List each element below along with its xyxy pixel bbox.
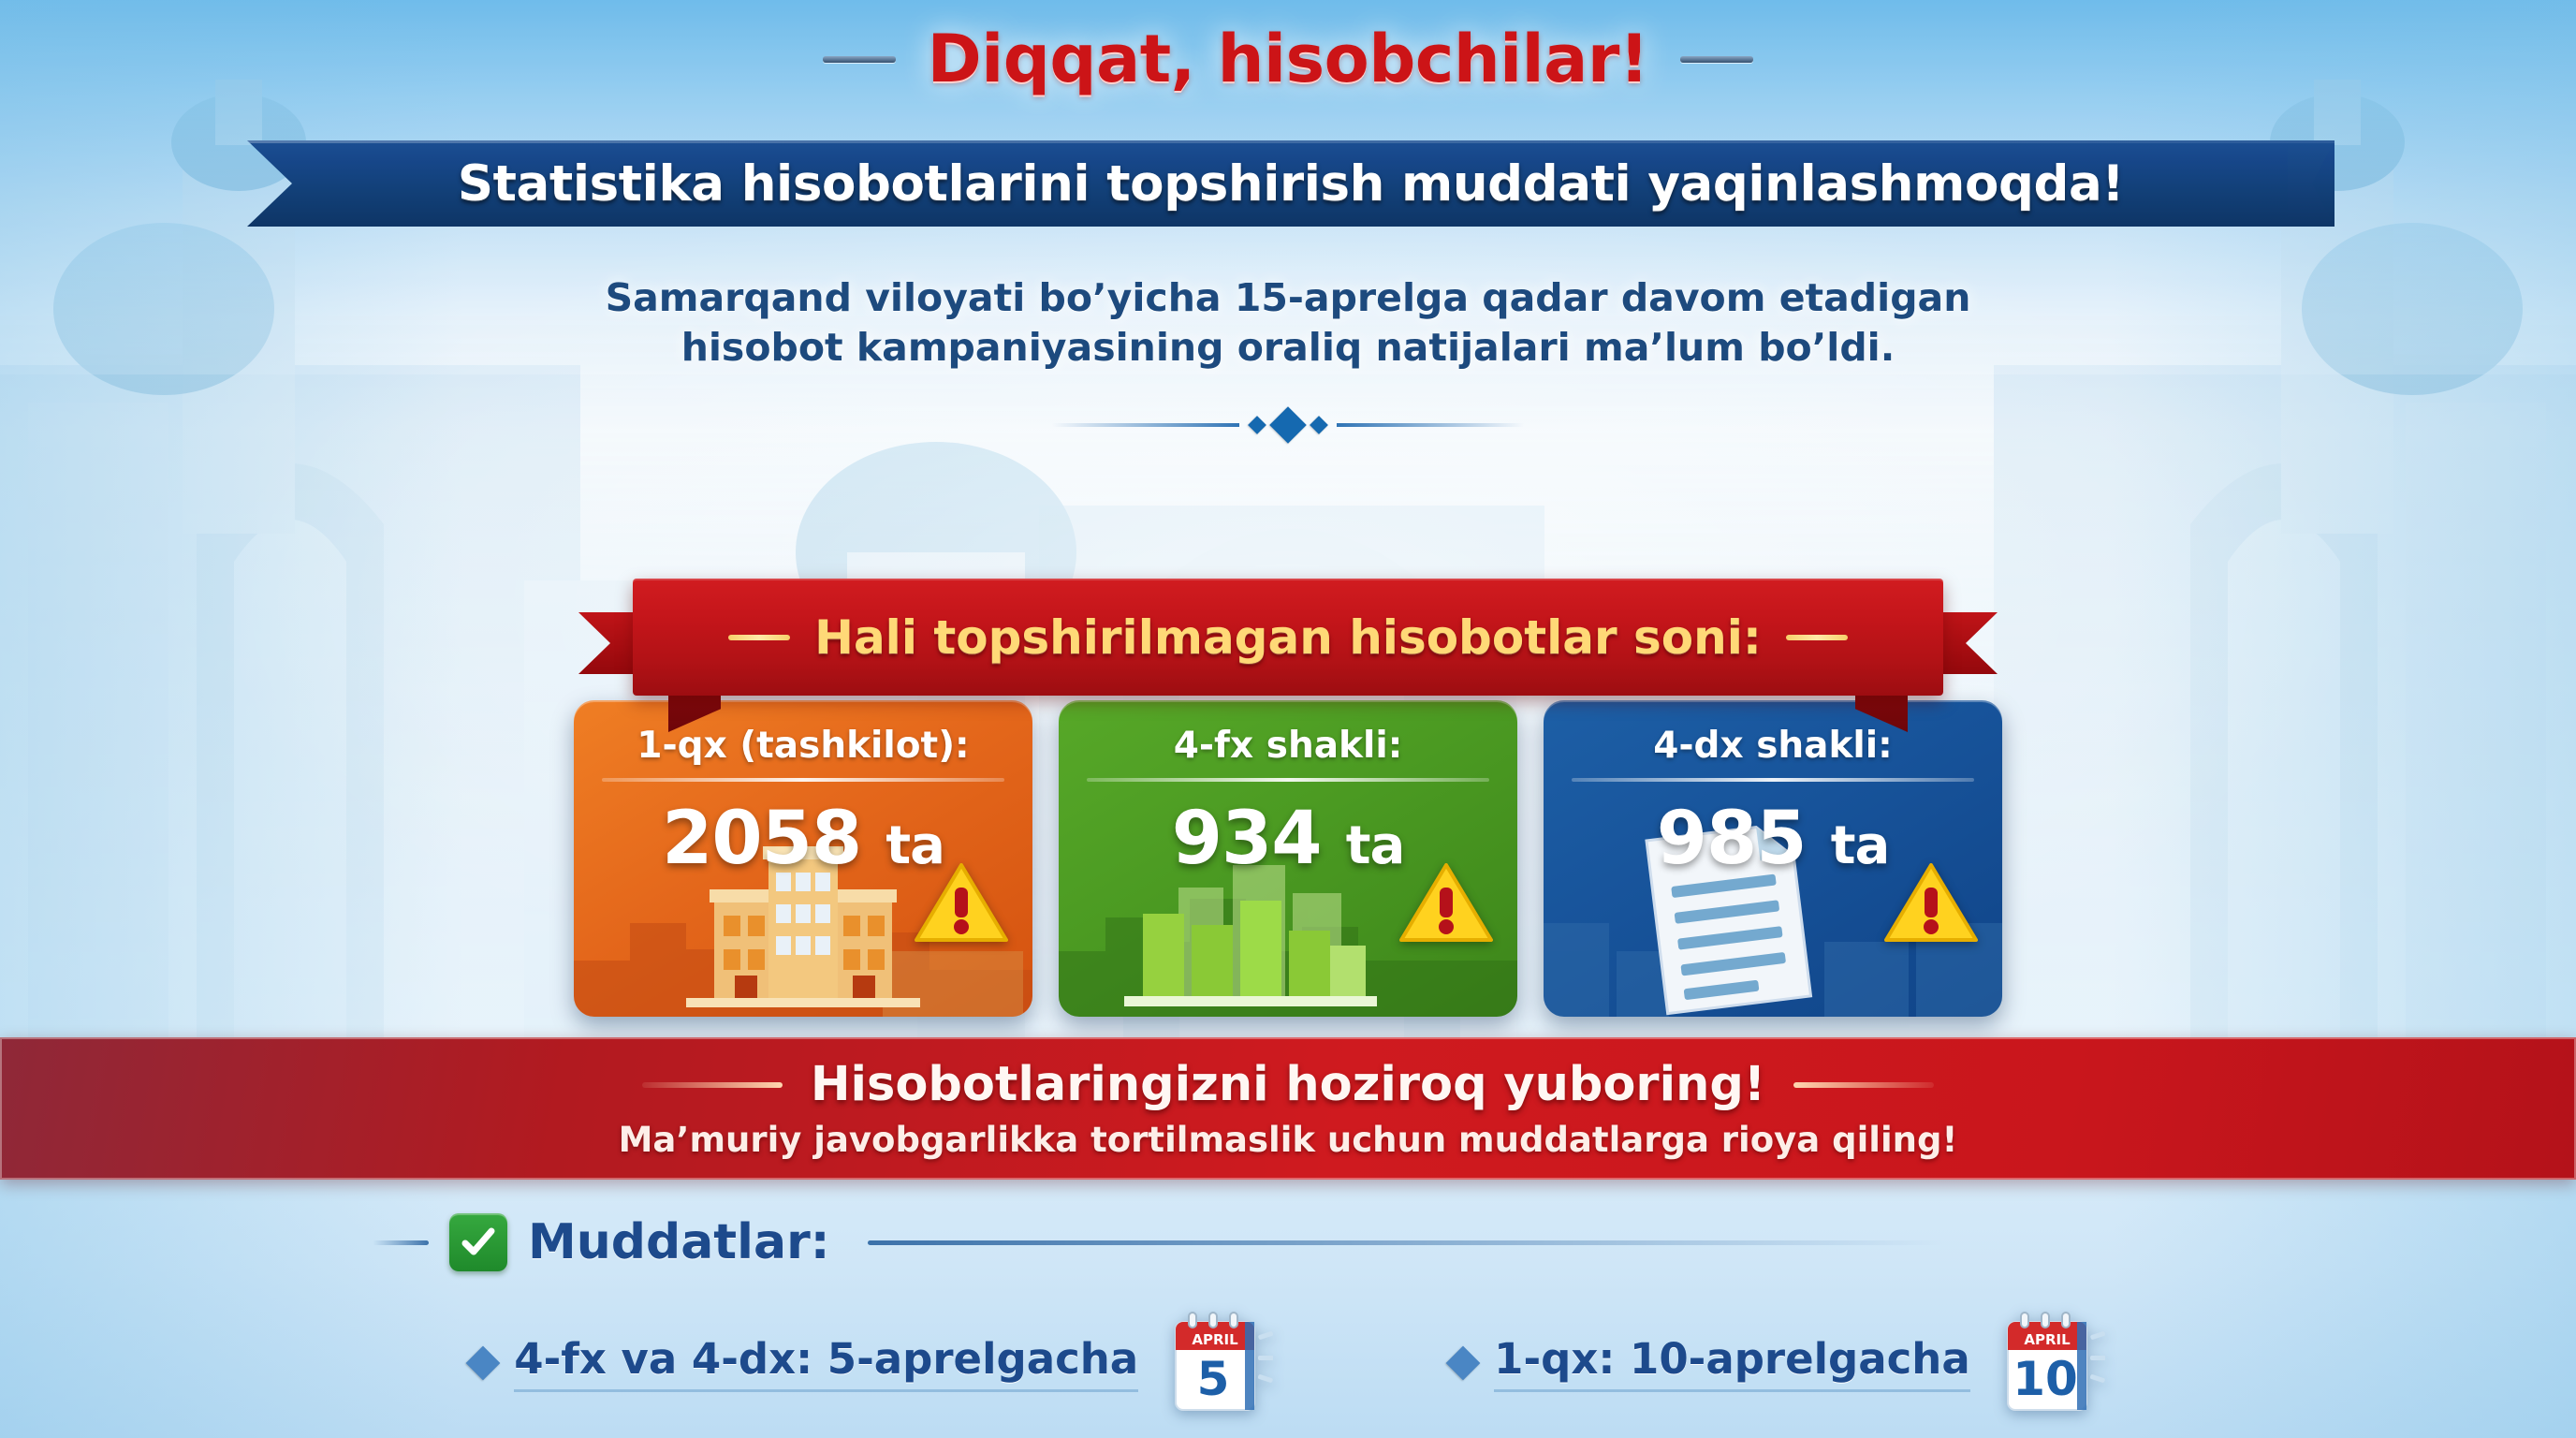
banner-arrow-right-icon bbox=[2288, 140, 2334, 227]
page-title: Diqqat, hisobchilar! bbox=[928, 21, 1649, 97]
title-dash-right-icon bbox=[1680, 56, 1753, 63]
stat-card-divider bbox=[1572, 778, 1974, 782]
bullet-diamond-icon bbox=[1446, 1346, 1481, 1381]
headline-banner-body: Statistika hisobotlarini topshirish mudd… bbox=[247, 140, 2334, 227]
stat-card-label: 4-dx shakli: bbox=[1572, 725, 1974, 767]
subtitle-block: Samarqand viloyati bo’yicha 15-aprelga q… bbox=[0, 273, 2576, 374]
headline-banner-text: Statistika hisobotlarini topshirish mudd… bbox=[458, 155, 2124, 213]
stat-card-value: 934 bbox=[1172, 797, 1322, 881]
deadlines-title: Muddatlar: bbox=[528, 1214, 830, 1270]
callout-dash-left-icon bbox=[642, 1082, 783, 1088]
callout-subheading: Ma’muriy javobgarlikka tortilmaslik uchu… bbox=[619, 1120, 1958, 1160]
calendar-month-label: APRIL bbox=[1193, 1331, 1239, 1348]
separator-diamond-small-left-icon bbox=[1248, 416, 1266, 434]
callout-band: Hisobotlaringizni hoziroq yuboring! Ma’m… bbox=[0, 1037, 2576, 1180]
deadlines-header: Muddatlar: bbox=[0, 1213, 2576, 1271]
deadline-item-1qx: 1-qx: 10-aprelgacha bbox=[1451, 1309, 2105, 1417]
stats-ribbon-text: Hali topshirilmagan hisobotlar soni: bbox=[814, 610, 1762, 665]
stat-card-value: 985 bbox=[1657, 797, 1807, 881]
warning-triangle-icon bbox=[1398, 859, 1495, 947]
calendar-icon: APRIL 5 bbox=[1172, 1309, 1273, 1417]
deadlines-dash-left-icon bbox=[373, 1240, 429, 1245]
title-dash-left-icon bbox=[823, 56, 896, 63]
callout-heading: Hisobotlaringizni hoziroq yuboring! bbox=[811, 1057, 1765, 1112]
stat-card-unit: ta bbox=[1346, 815, 1405, 876]
deadline-item-4fx-4dx: 4-fx va 4-dx: 5-aprelgacha bbox=[471, 1309, 1273, 1417]
stat-card-label: 4-fx shakli: bbox=[1087, 725, 1489, 767]
separator-diamond-large-icon bbox=[1269, 406, 1307, 444]
ribbon-dash-right-icon bbox=[1786, 635, 1848, 640]
calendar-day-label: 5 bbox=[1197, 1352, 1230, 1406]
calendar-month-label: APRIL bbox=[2024, 1331, 2071, 1348]
calendar-icon: APRIL 10 bbox=[2004, 1309, 2105, 1417]
warning-triangle-icon bbox=[1882, 859, 1980, 947]
deadlines-list: 4-fx va 4-dx: 5-aprelgacha bbox=[0, 1309, 2576, 1417]
stats-ribbon: Hali topshirilmagan hisobotlar soni: bbox=[0, 579, 2576, 696]
deadline-item-label: 1-qx: 10-aprelgacha bbox=[1494, 1334, 1970, 1392]
subtitle-line-1: Samarqand viloyati bo’yicha 15-aprelga q… bbox=[0, 273, 2576, 323]
stat-card-value: 2058 bbox=[662, 797, 861, 881]
infographic-canvas: Diqqat, hisobchilar! Statistika hisobotl… bbox=[0, 0, 2576, 1438]
stat-card-unit: ta bbox=[1831, 815, 1890, 876]
bullet-diamond-icon bbox=[466, 1346, 501, 1381]
stat-card-4fx[interactable]: 4-fx shakli: 934 ta bbox=[1059, 700, 1517, 1017]
stats-ribbon-body: Hali topshirilmagan hisobotlar soni: bbox=[633, 579, 1943, 696]
calendar-day-label: 10 bbox=[2012, 1352, 2078, 1406]
subtitle-line-2: hisobot kampaniyasining oraliq natijalar… bbox=[0, 323, 2576, 373]
headline-banner: Statistika hisobotlarini topshirish mudd… bbox=[247, 140, 2334, 227]
ribbon-dash-left-icon bbox=[728, 635, 790, 640]
callout-heading-row: Hisobotlaringizni hoziroq yuboring! bbox=[642, 1057, 1934, 1112]
deadline-item-label: 4-fx va 4-dx: 5-aprelgacha bbox=[514, 1334, 1138, 1392]
diamond-separator bbox=[1052, 412, 1524, 438]
stat-card-divider bbox=[602, 778, 1004, 782]
stat-card-divider bbox=[1087, 778, 1489, 782]
separator-line-left bbox=[1052, 423, 1239, 427]
stat-card-4dx[interactable]: 4-dx shakli: 985 ta bbox=[1544, 700, 2002, 1017]
callout-dash-right-icon bbox=[1793, 1082, 1934, 1088]
check-mark-icon bbox=[449, 1213, 507, 1271]
page-title-row: Diqqat, hisobchilar! bbox=[0, 21, 2576, 97]
stat-card-label: 1-qx (tashkilot): bbox=[602, 725, 1004, 767]
separator-line-right bbox=[1337, 423, 1524, 427]
stat-cards: 1-qx (tashkilot): 2058 ta bbox=[0, 700, 2576, 1019]
stat-card-1qx[interactable]: 1-qx (tashkilot): 2058 ta bbox=[574, 700, 1032, 1017]
separator-diamond-small-right-icon bbox=[1310, 416, 1328, 434]
warning-triangle-icon bbox=[913, 859, 1010, 947]
deadlines-dash-right-icon bbox=[868, 1240, 1944, 1245]
